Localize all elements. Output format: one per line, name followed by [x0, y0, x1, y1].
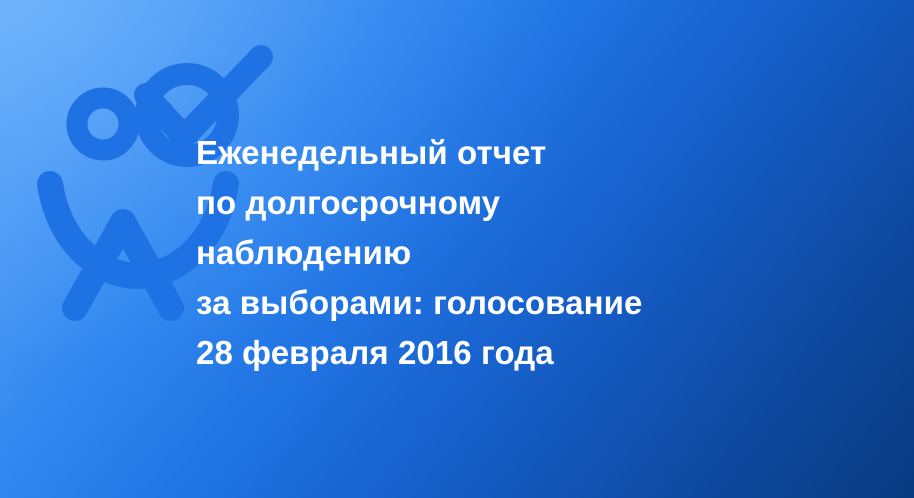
page-title: Еженедельный отчет по долгосрочному набл… [196, 128, 856, 378]
logo-head-ring-left-icon [77, 98, 129, 150]
report-title-banner: Еженедельный отчет по долгосрочному набл… [0, 0, 914, 498]
title-line-2: по долгосрочному [196, 178, 856, 228]
title-line-5: 28 февраля 2016 года [196, 328, 856, 378]
title-line-1: Еженедельный отчет [196, 128, 856, 178]
title-line-3: наблюдению [196, 228, 856, 278]
title-line-4: за выборами: голосование [196, 278, 856, 328]
